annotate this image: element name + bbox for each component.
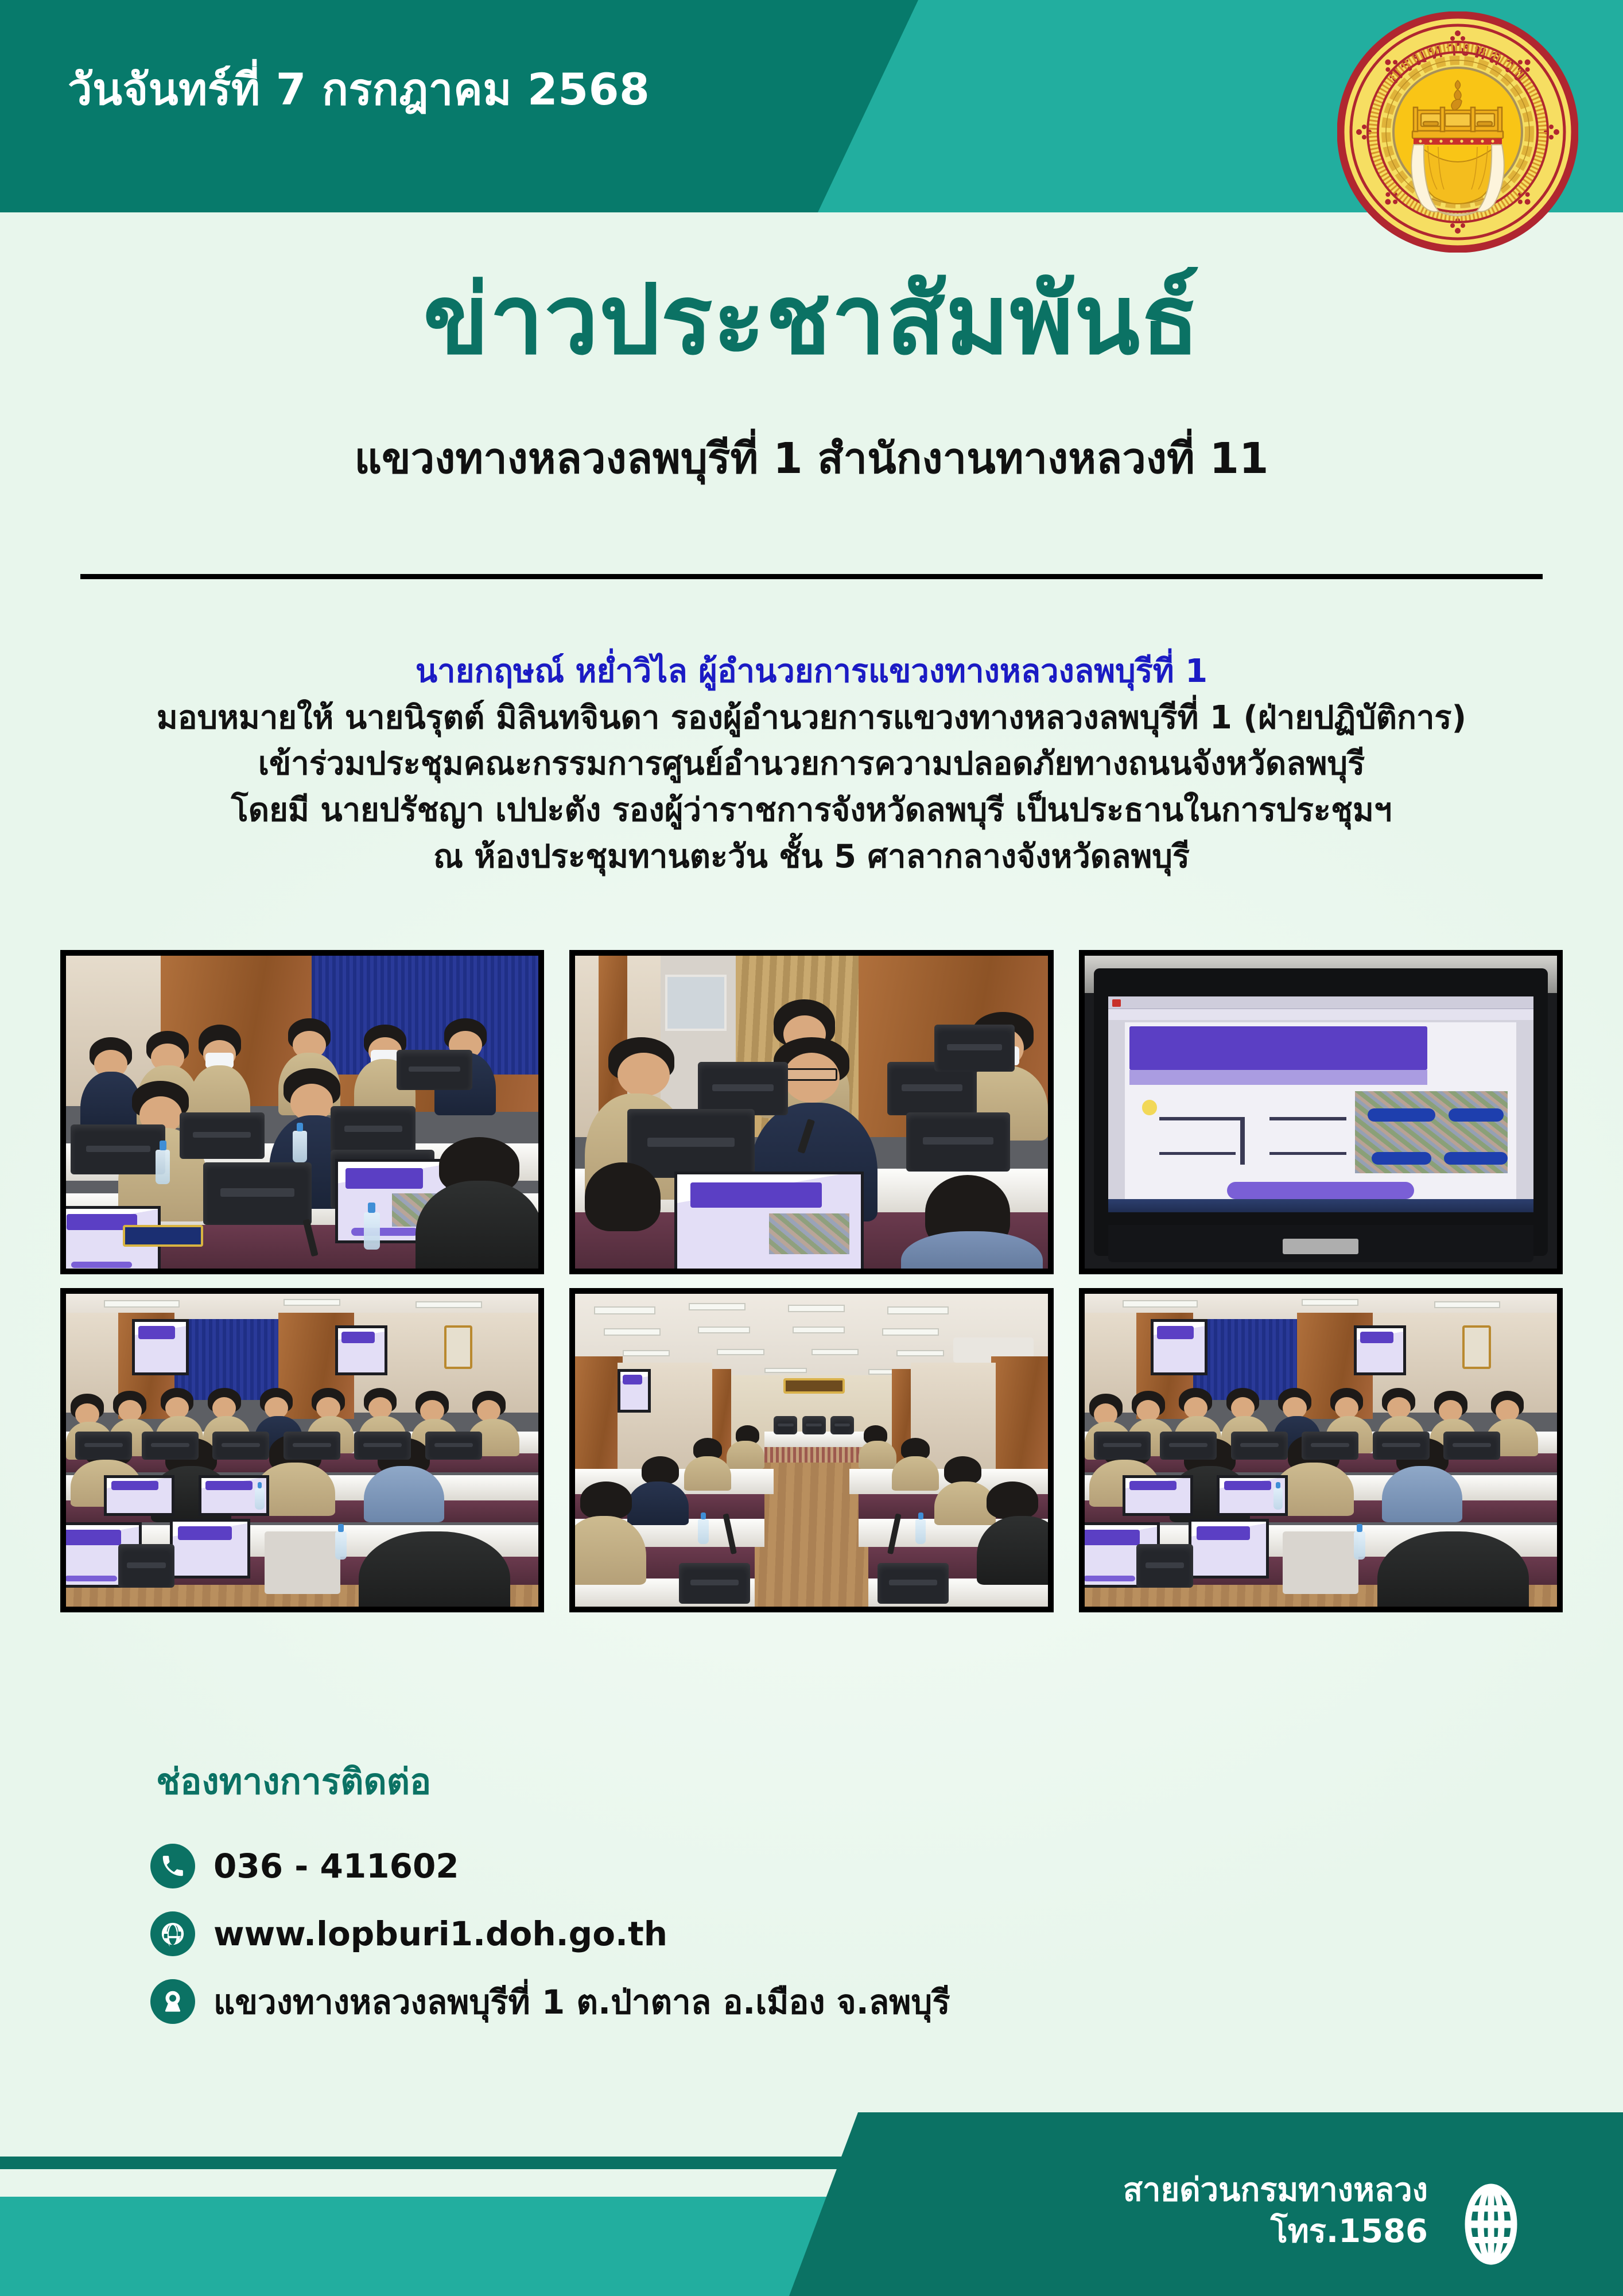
- contact-heading: ช่องทางการติดต่อ: [156, 1754, 431, 1810]
- contact-list: 036 - 411602 www.lopburi1.doh.go.th แขวง…: [150, 1834, 1470, 2037]
- photo-3-scene: [1085, 956, 1557, 1269]
- body-line-3: เข้าร่วมประชุมคณะกรรมการศูนย์อำนวยการควา…: [40, 741, 1583, 788]
- department-of-highways-seal-icon: กรมทางหลวง: [1337, 11, 1578, 253]
- poster-root: วันจันทร์ที่ 7 กรกฎาคม 2568 กรมทางหลวง: [0, 0, 1623, 2296]
- photo-4[interactable]: [60, 1288, 544, 1612]
- phone-number: 036 - 411602: [213, 1847, 459, 1886]
- footer-hotline-label: สายด่วนกรมทางหลวง: [1123, 2170, 1428, 2211]
- globe-icon: [150, 1911, 195, 1956]
- photo-2-scene: [575, 956, 1047, 1269]
- website-url: www.lopburi1.doh.go.th: [213, 1914, 667, 1953]
- location-pin-icon: [150, 1979, 195, 2024]
- title-divider: [80, 574, 1543, 579]
- footer-globe-icon: [1457, 2181, 1525, 2267]
- contact-row-address[interactable]: แขวงทางหลวงลพบุรีที่ 1 ต.ป่าตาล อ.เมือง …: [150, 1969, 1470, 2034]
- photo-6[interactable]: [1079, 1288, 1563, 1612]
- footer-hotline-number: โทร.1586: [1123, 2211, 1428, 2252]
- body-line-5: ณ ห้องประชุมทานตะวัน ชั้น 5 ศาลากลางจังห…: [40, 834, 1583, 881]
- phone-icon: [150, 1844, 195, 1888]
- photo-3[interactable]: [1079, 950, 1563, 1274]
- body-line-1: นายกฤษณ์ หย่ำวิไล ผู้อำนวยการแขวงทางหลวง…: [40, 649, 1583, 695]
- photo-1[interactable]: [60, 950, 544, 1274]
- photo-5[interactable]: [569, 1288, 1053, 1612]
- photo-5-scene: [575, 1294, 1047, 1607]
- photo-6-scene: [1085, 1294, 1557, 1607]
- photo-2[interactable]: [569, 950, 1053, 1274]
- contact-row-phone[interactable]: 036 - 411602: [150, 1834, 1470, 1898]
- page-subtitle: แขวงทางหลวงลพบุรีที่ 1 สำนักงานทางหลวงที…: [0, 433, 1623, 484]
- footer-hotline: สายด่วนกรมทางหลวง โทร.1586: [1123, 2170, 1428, 2252]
- body-line-4: โดยมี นายปรัชญา เปปะตัง รองผู้ว่าราชการจ…: [40, 788, 1583, 834]
- photo-1-scene: [66, 956, 538, 1269]
- photo-gallery: [60, 950, 1563, 1612]
- body-line-2: มอบหมายให้ นายนิรุตต์ มิลินทจินดา รองผู้…: [40, 695, 1583, 742]
- contact-row-website[interactable]: www.lopburi1.doh.go.th: [150, 1902, 1470, 1966]
- page-title: ข่าวประชาสัมพันธ์: [0, 264, 1623, 376]
- photo-4-scene: [66, 1294, 538, 1607]
- announcement-body: นายกฤษณ์ หย่ำวิไล ผู้อำนวยการแขวงทางหลวง…: [40, 649, 1583, 880]
- header-date: วันจันทร์ที่ 7 กรกฎาคม 2568: [68, 68, 650, 111]
- office-address: แขวงทางหลวงลพบุรีที่ 1 ต.ป่าตาล อ.เมือง …: [213, 1975, 950, 2029]
